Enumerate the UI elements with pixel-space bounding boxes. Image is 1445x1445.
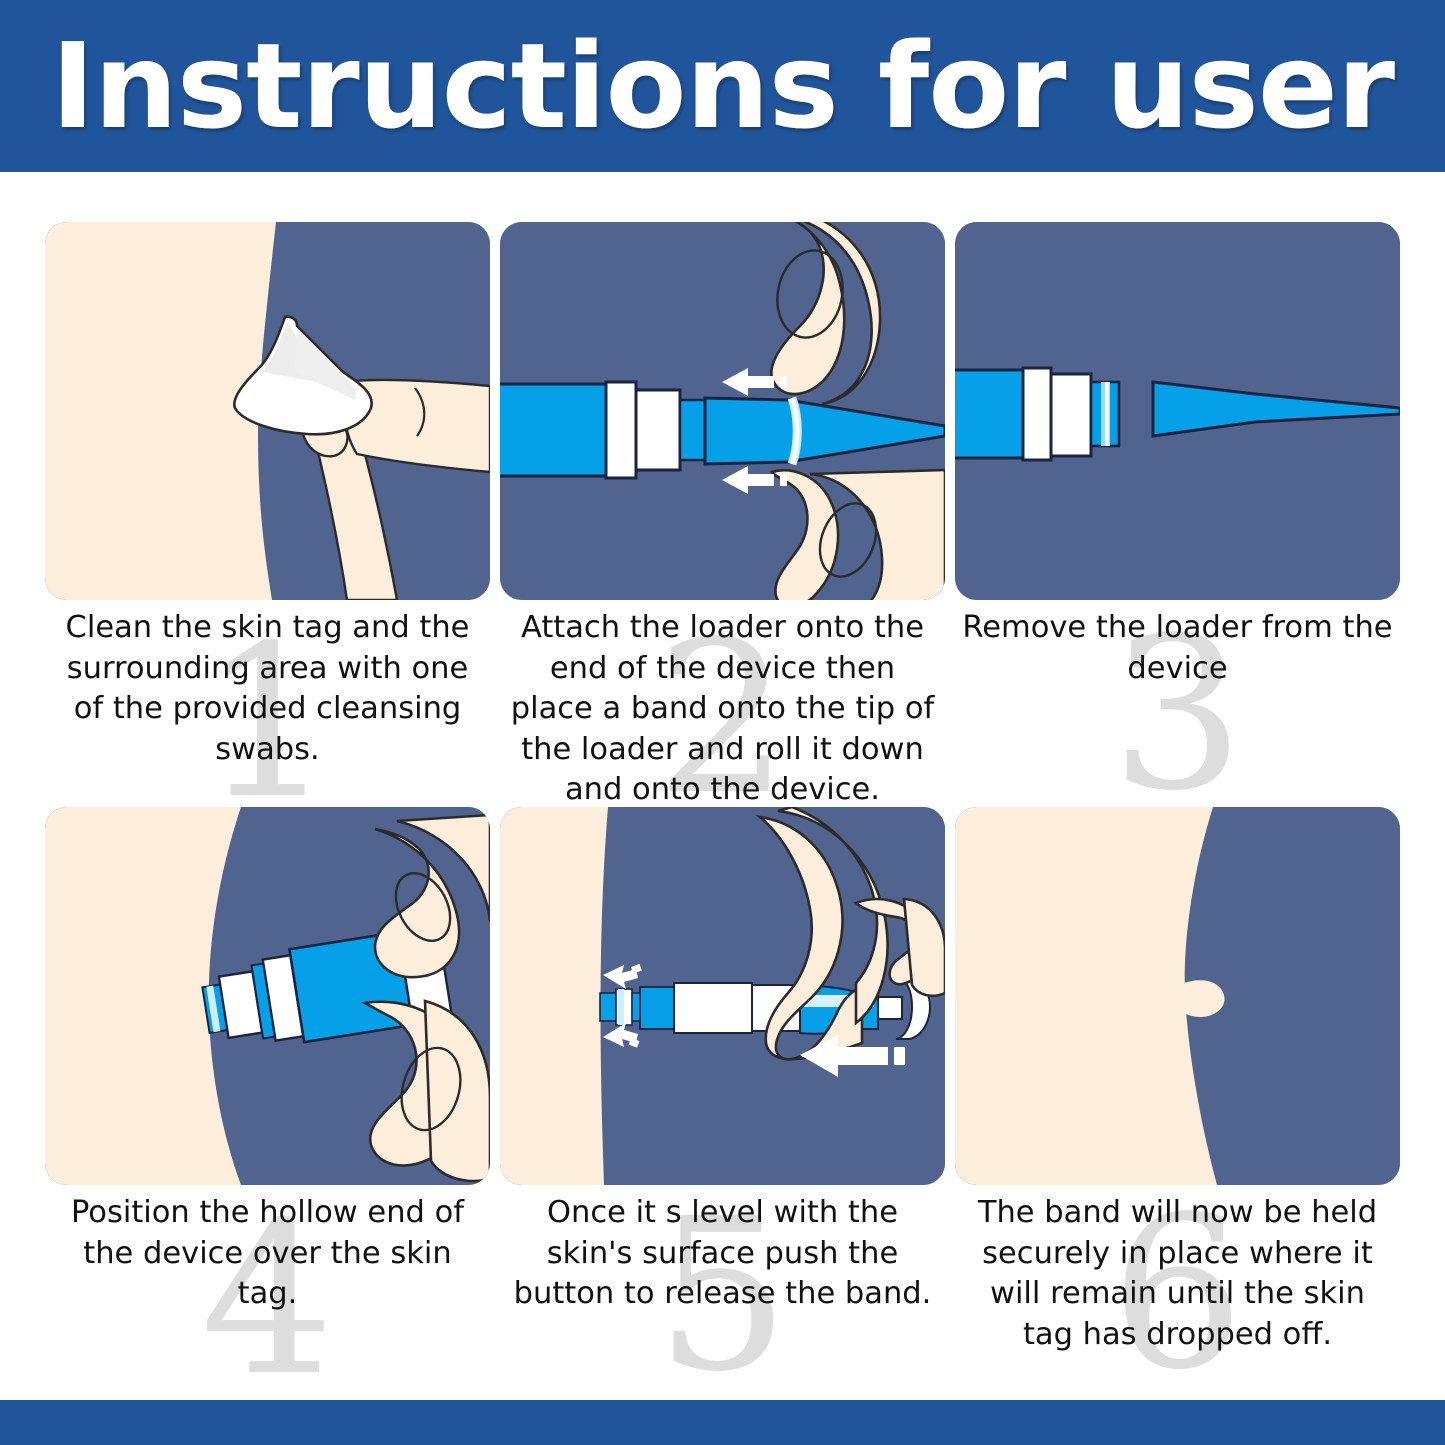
instruction-poster: Instructions for user <box>0 0 1445 1445</box>
step-4: 4 Position the hollow end of the device … <box>45 807 493 1392</box>
step-5-caption: Once it s level with the skin's surface … <box>500 1193 945 1315</box>
step-3-caption: Remove the loader from the device <box>955 608 1400 689</box>
illustration-clean-skin <box>45 222 490 600</box>
step-2-illustration <box>500 222 945 600</box>
step-6-caption: The band will now be held securely in pl… <box>955 1193 1400 1355</box>
step-4-caption: Position the hollow end of the device ov… <box>45 1193 490 1315</box>
step-6-illustration <box>955 807 1400 1185</box>
steps-grid: 1 Clean the skin tag and the surrounding… <box>45 222 1400 1392</box>
step-3-caption-wrap: 3 Remove the loader from the device <box>955 600 1400 689</box>
step-5-illustration <box>500 807 945 1185</box>
step-1-caption: Clean the skin tag and the surrounding a… <box>45 608 490 770</box>
step-1: 1 Clean the skin tag and the surrounding… <box>45 222 493 807</box>
step-6: 6 The band will now be held securely in … <box>955 807 1403 1392</box>
step-4-caption-wrap: 4 Position the hollow end of the device … <box>45 1185 490 1315</box>
footer-banner <box>0 1400 1445 1445</box>
step-2-caption-wrap: 2 Attach the loader onto the end of the … <box>500 600 945 811</box>
step-1-caption-wrap: 1 Clean the skin tag and the surrounding… <box>45 600 490 770</box>
illustration-press-button-release-band <box>500 807 945 1185</box>
illustration-attach-loader-and-band <box>500 222 945 600</box>
illustration-band-in-place-on-skin-tag <box>955 807 1400 1185</box>
step-5-caption-wrap: 5 Once it s level with the skin's surfac… <box>500 1185 945 1315</box>
step-4-illustration <box>45 807 490 1185</box>
step-2-caption: Attach the loader onto the end of the de… <box>500 608 945 811</box>
step-6-caption-wrap: 6 The band will now be held securely in … <box>955 1185 1400 1355</box>
illustration-position-device-over-skin-tag <box>45 807 490 1185</box>
illustration-remove-loader <box>955 222 1400 600</box>
step-5: 5 Once it s level with the skin's surfac… <box>500 807 948 1392</box>
step-3-illustration <box>955 222 1400 600</box>
step-3: 3 Remove the loader from the device <box>955 222 1403 807</box>
page-title: Instructions for user <box>51 27 1394 145</box>
step-1-illustration <box>45 222 490 600</box>
header-banner: Instructions for user <box>0 0 1445 172</box>
step-2: 2 Attach the loader onto the end of the … <box>500 222 948 807</box>
